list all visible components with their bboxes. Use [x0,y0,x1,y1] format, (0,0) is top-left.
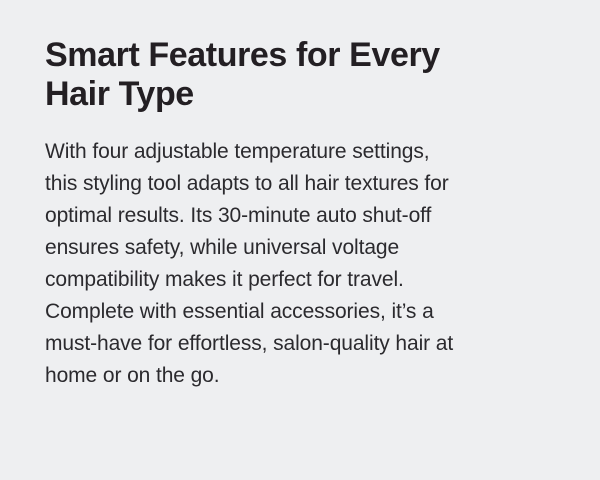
feature-description-panel: Smart Features for Every Hair Type With … [0,0,600,480]
text-content-block: Smart Features for Every Hair Type With … [45,36,565,392]
page-title: Smart Features for Every Hair Type [45,36,565,114]
feature-description-paragraph: With four adjustable temperature setting… [45,136,565,392]
